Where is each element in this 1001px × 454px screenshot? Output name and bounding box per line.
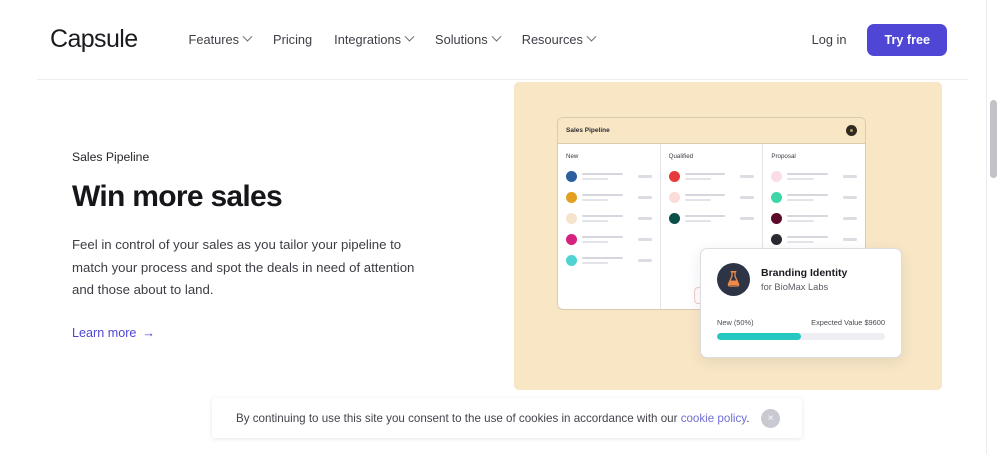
page-root: Capsule Features Pricing Integrations So… <box>0 0 1001 454</box>
row-skeleton <box>787 215 838 223</box>
chevron-down-icon <box>586 32 596 42</box>
user-avatar-icon <box>846 125 857 136</box>
row-value-skeleton <box>638 196 652 199</box>
nav-item-integrations[interactable]: Integrations <box>334 32 413 47</box>
hero-body-copy: Feel in control of your sales as you tai… <box>72 234 427 302</box>
avatar <box>771 171 782 182</box>
arrow-right-icon: → <box>142 326 155 340</box>
header-actions: Log in Try free <box>812 24 947 56</box>
deal-detail-card: Branding Identity for BioMax Labs New (5… <box>700 248 902 358</box>
nav-item-solutions[interactable]: Solutions <box>435 32 500 47</box>
nav-label-resources: Resources <box>522 32 583 47</box>
cookie-text-after: . <box>746 412 749 425</box>
brand-logo[interactable]: Capsule <box>50 25 138 54</box>
page-title: Win more sales <box>72 180 472 214</box>
nav-label-integrations: Integrations <box>334 32 401 47</box>
row-skeleton <box>685 194 736 202</box>
list-item[interactable] <box>566 255 652 266</box>
row-value-skeleton <box>843 238 857 241</box>
avatar <box>566 192 577 203</box>
row-value-skeleton <box>740 217 754 220</box>
list-item[interactable] <box>566 171 652 182</box>
row-value-skeleton <box>740 175 754 178</box>
deal-value-label: Expected Value $9600 <box>811 318 885 327</box>
row-skeleton <box>685 215 736 223</box>
chevron-down-icon <box>491 32 501 42</box>
main-nav: Features Pricing Integrations Solutions … <box>189 32 595 47</box>
list-item[interactable] <box>771 192 857 203</box>
hero-eyebrow: Sales Pipeline <box>72 150 472 164</box>
nav-item-pricing[interactable]: Pricing <box>273 32 312 47</box>
row-skeleton <box>787 194 838 202</box>
avatar <box>566 171 577 182</box>
row-value-skeleton <box>843 196 857 199</box>
nav-label-features: Features <box>189 32 240 47</box>
row-skeleton <box>787 236 838 244</box>
chevron-down-icon <box>243 32 253 42</box>
site-header: Capsule Features Pricing Integrations So… <box>37 0 968 80</box>
row-skeleton <box>685 173 736 181</box>
row-value-skeleton <box>740 196 754 199</box>
list-item[interactable] <box>669 171 755 182</box>
avatar <box>669 192 680 203</box>
flask-icon <box>717 263 750 296</box>
close-icon[interactable]: × <box>761 409 780 428</box>
deal-title: Branding Identity <box>761 266 847 280</box>
row-skeleton <box>582 257 633 265</box>
hero-text-block: Sales Pipeline Win more sales Feel in co… <box>72 150 472 342</box>
avatar <box>669 213 680 224</box>
cookie-text-before: By continuing to use this site you conse… <box>236 412 681 425</box>
nav-label-pricing: Pricing <box>273 32 312 47</box>
pipeline-column-new: New <box>558 144 660 310</box>
avatar <box>566 234 577 245</box>
row-value-skeleton <box>638 238 652 241</box>
row-value-skeleton <box>843 217 857 220</box>
pipeline-card-title: Sales Pipeline <box>566 127 610 134</box>
try-free-button[interactable]: Try free <box>867 24 947 56</box>
list-item[interactable] <box>771 234 857 245</box>
pipeline-column-title: Proposal <box>771 153 857 160</box>
pipeline-card-header: Sales Pipeline <box>558 118 865 144</box>
deal-titles: Branding Identity for BioMax Labs <box>761 266 847 294</box>
nav-item-resources[interactable]: Resources <box>522 32 595 47</box>
nav-label-solutions: Solutions <box>435 32 488 47</box>
row-value-skeleton <box>843 175 857 178</box>
avatar <box>771 213 782 224</box>
deal-progress-bar <box>717 333 885 340</box>
deal-subtitle: for BioMax Labs <box>761 280 847 294</box>
avatar <box>771 234 782 245</box>
cookie-policy-link[interactable]: cookie policy <box>681 412 747 425</box>
login-link[interactable]: Log in <box>812 32 847 47</box>
row-value-skeleton <box>638 259 652 262</box>
row-skeleton <box>582 194 633 202</box>
list-item[interactable] <box>669 213 755 224</box>
scrollbar-track[interactable] <box>986 0 1001 454</box>
deal-progress-fill <box>717 333 801 340</box>
learn-more-link[interactable]: Learn more → <box>72 326 155 340</box>
cookie-banner: By continuing to use this site you conse… <box>212 398 802 438</box>
list-item[interactable] <box>771 171 857 182</box>
nav-item-features[interactable]: Features <box>189 32 252 47</box>
pipeline-column-title: New <box>566 153 652 160</box>
avatar <box>566 255 577 266</box>
list-item[interactable] <box>566 234 652 245</box>
avatar <box>566 213 577 224</box>
row-skeleton <box>582 173 633 181</box>
row-skeleton <box>787 173 838 181</box>
cookie-banner-text: By continuing to use this site you conse… <box>236 412 749 425</box>
list-item[interactable] <box>566 213 652 224</box>
row-skeleton <box>582 236 633 244</box>
list-item[interactable] <box>771 213 857 224</box>
deal-meta-row: New (50%) Expected Value $9600 <box>717 318 885 327</box>
deal-stage-label: New (50%) <box>717 318 754 327</box>
row-value-skeleton <box>638 175 652 178</box>
avatar <box>771 192 782 203</box>
pipeline-column-title: Qualified <box>669 153 755 160</box>
list-item[interactable] <box>566 192 652 203</box>
list-item[interactable] <box>669 192 755 203</box>
row-skeleton <box>582 215 633 223</box>
avatar <box>669 171 680 182</box>
deal-header: Branding Identity for BioMax Labs <box>717 263 885 296</box>
scrollbar-thumb[interactable] <box>990 100 997 178</box>
row-value-skeleton <box>638 217 652 220</box>
chevron-down-icon <box>405 32 415 42</box>
learn-more-label: Learn more <box>72 326 136 340</box>
